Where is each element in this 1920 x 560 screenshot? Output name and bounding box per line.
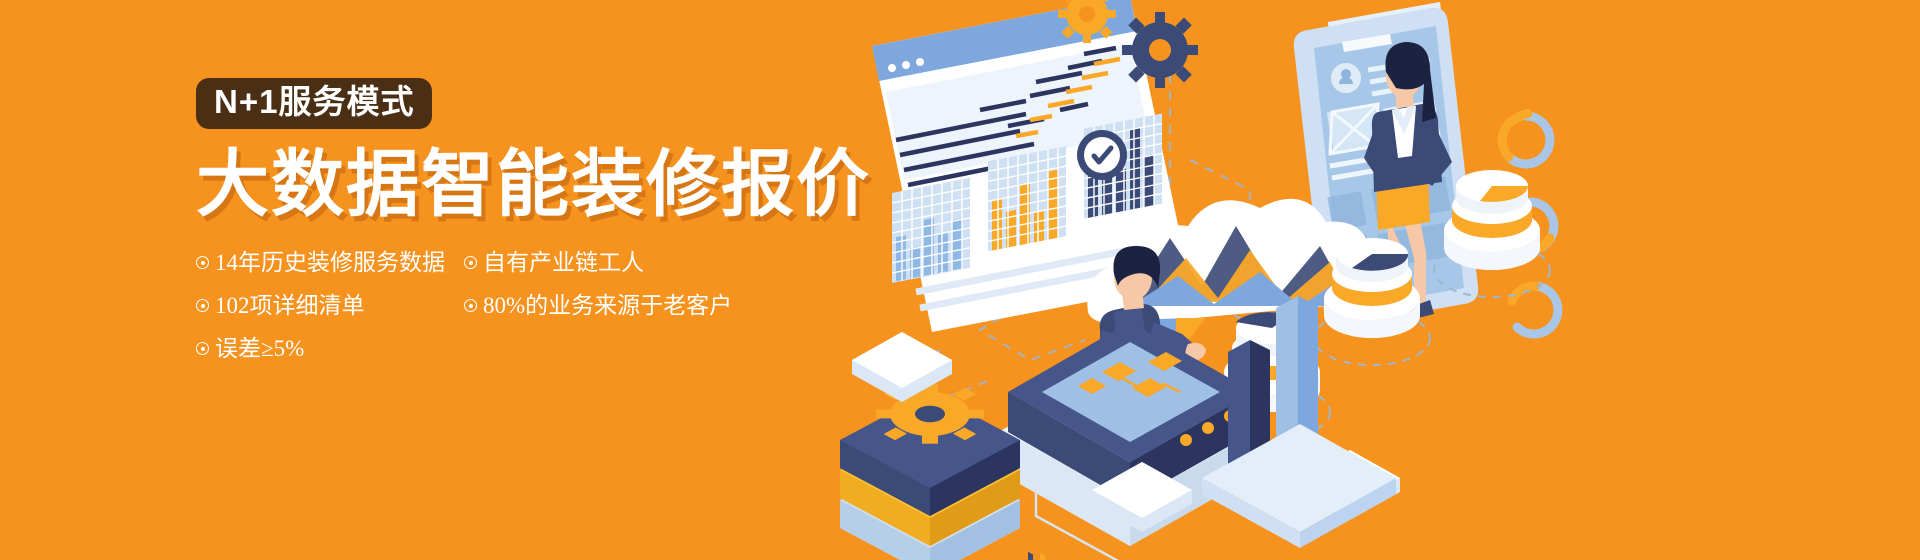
window-dot-3 [916, 58, 924, 66]
banner-root: N+1服务模式 大数据智能装修报价 14年历史装修服务数据 102项详细清单 误… [0, 0, 1920, 560]
list-item: 14年历史装修服务数据 [196, 251, 444, 274]
list-item-label: 14年历史装修服务数据 [215, 251, 445, 274]
feature-bullets: 14年历史装修服务数据 102项详细清单 误差≥5% 自有产业链工人 [196, 251, 896, 380]
pixel-bar-chart-orange [988, 146, 1066, 251]
gear-on-stacked-hexagon [840, 384, 1020, 560]
window-dot-2 [902, 61, 910, 69]
circle-dot-bullet-icon [464, 256, 477, 269]
bullet-column-left: 14年历史装修服务数据 102项详细清单 误差≥5% [196, 251, 444, 380]
bullet-column-right: 自有产业链工人 80%的业务来源于老客户 [464, 251, 764, 380]
text-block: N+1服务模式 大数据智能装修报价 14年历史装修服务数据 102项详细清单 误… [196, 78, 896, 380]
list-item-label: 102项详细清单 [215, 294, 365, 317]
circle-dot-bullet-icon [196, 256, 209, 269]
list-item-label: 自有产业链工人 [483, 251, 644, 274]
window-dot-1 [888, 64, 896, 72]
circle-dot-bullet-icon [196, 299, 209, 312]
checkmark-badge-icon [1077, 130, 1127, 180]
list-item-label: 80%的业务来源于老客户 [483, 294, 732, 317]
page-title: 大数据智能装修报价 [196, 147, 896, 224]
gear-icon-large [1122, 12, 1198, 88]
list-item: 误差≥5% [196, 337, 444, 360]
refresh-ring-icon-1 [1502, 108, 1550, 164]
list-item: 80%的业务来源于老客户 [464, 294, 764, 317]
circle-dot-bullet-icon [464, 299, 477, 312]
pixel-bar-chart-light-blue [892, 178, 970, 283]
refresh-ring-icon-3 [1512, 286, 1558, 334]
list-item: 自有产业链工人 [464, 251, 764, 274]
list-item: 102项详细清单 [196, 294, 444, 317]
list-item-label: 误差≥5% [215, 337, 304, 360]
circle-dot-bullet-icon [196, 342, 209, 355]
bar-chart-columns [1028, 552, 1081, 560]
isometric-big-data-illustration [830, 0, 1920, 560]
service-mode-badge: N+1服务模式 [196, 78, 432, 129]
